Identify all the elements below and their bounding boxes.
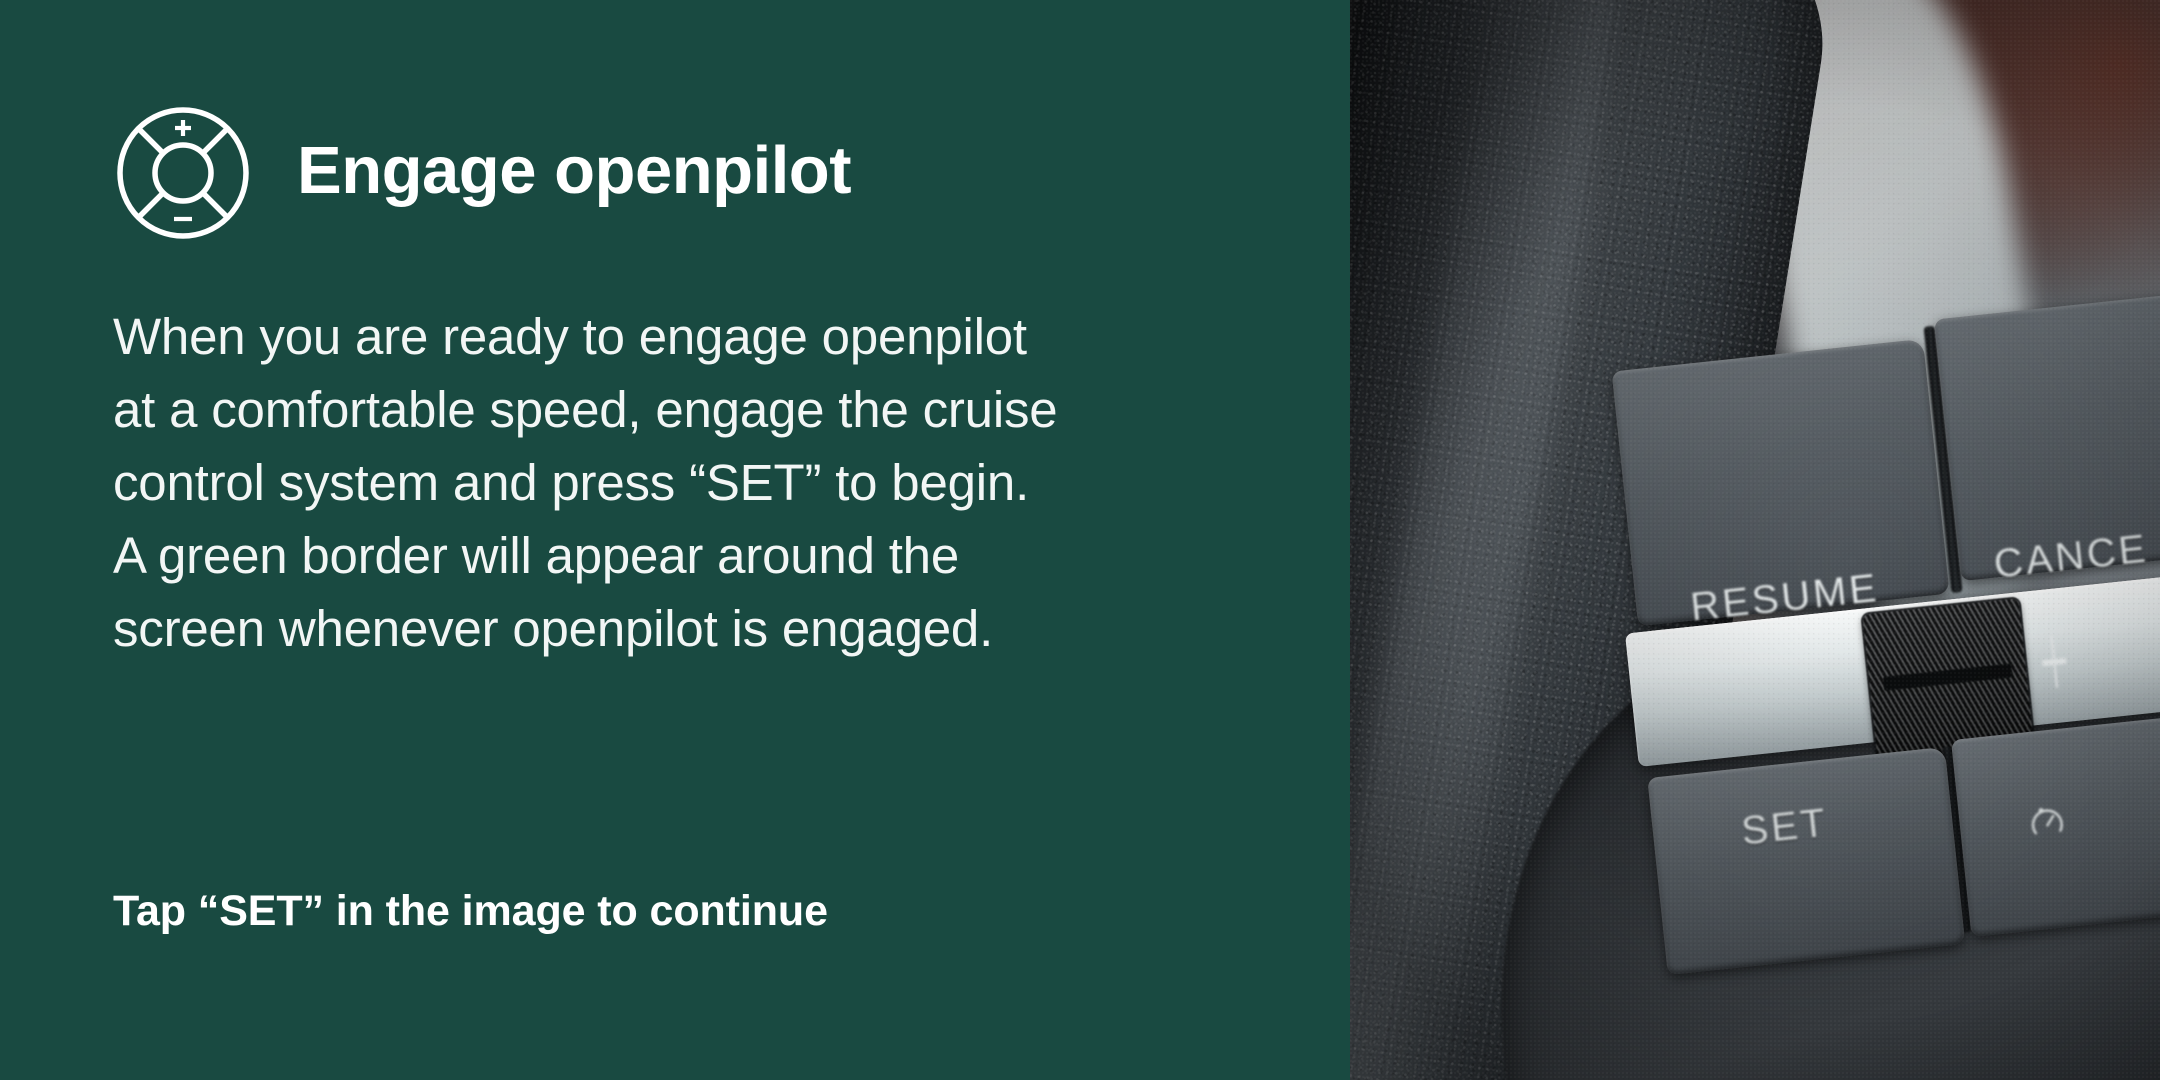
- instruction-line: screen whenever openpilot is engaged.: [113, 592, 1293, 665]
- instruction-panel: Engage openpilot When you are ready to e…: [0, 0, 1350, 1080]
- panel-header: Engage openpilot: [113, 100, 851, 246]
- set-button[interactable]: [1647, 747, 1965, 975]
- cruise-control-icon: [113, 103, 253, 243]
- page-title: Engage openpilot: [297, 137, 851, 210]
- set-button-label: SET: [1740, 800, 1831, 854]
- instruction-line: control system and press “SET” to begin.: [113, 446, 1293, 519]
- instruction-line: at a comfortable speed, engage the cruis…: [113, 373, 1293, 446]
- cruise-control-button-cluster[interactable]: RESUME CANCE SET: [1597, 290, 2160, 941]
- continue-hint: Tap “SET” in the image to continue: [113, 890, 828, 933]
- instruction-body: When you are ready to engage openpilot a…: [113, 300, 1293, 665]
- instruction-line: A green border will appear around the: [113, 519, 1293, 592]
- onboarding-screen: Engage openpilot When you are ready to e…: [0, 0, 2160, 1080]
- steering-wheel-photo[interactable]: RESUME CANCE SET: [1350, 0, 2160, 1080]
- instruction-line: When you are ready to engage openpilot: [113, 300, 1293, 373]
